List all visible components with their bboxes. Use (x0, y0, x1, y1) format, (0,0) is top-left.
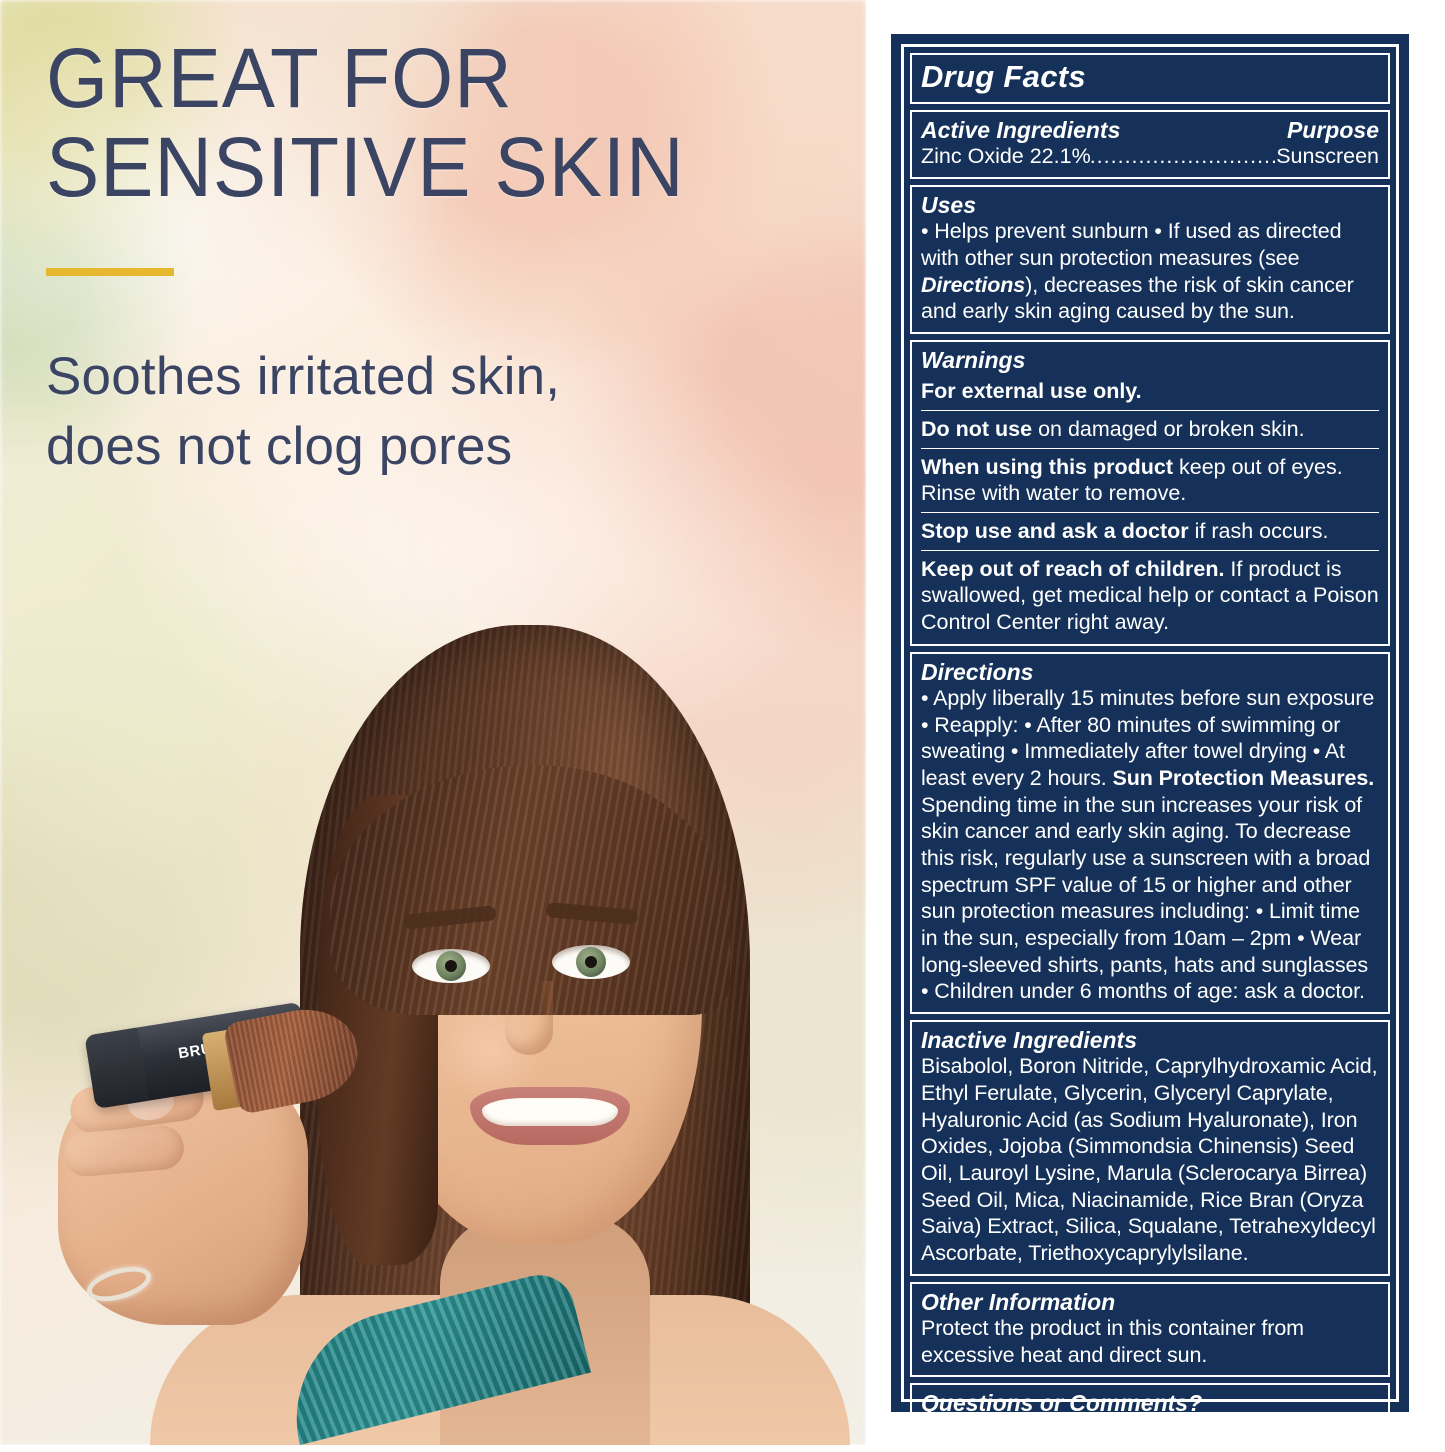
warning-rest: on damaged or broken skin. (1032, 417, 1305, 441)
accent-divider (46, 268, 174, 276)
warning-bold: When using this product (921, 455, 1173, 479)
mouth (470, 1087, 630, 1145)
uses-box: Uses • Helps prevent sunburn • If used a… (910, 185, 1390, 334)
headline-line-1: GREAT FOR (46, 34, 797, 123)
directions-box: Directions • Apply liberally 15 minutes … (910, 652, 1390, 1014)
marketing-panel: GREAT FOR SENSITIVE SKIN Soothes irritat… (0, 0, 866, 1445)
other-information-title: Other Information (921, 1289, 1379, 1315)
purpose-label: Purpose (1287, 117, 1379, 143)
active-ingredients-label: Active Ingredients (921, 117, 1120, 143)
warning-bold: Keep out of reach of children. (921, 557, 1224, 581)
subheadline-line-2: does not clog pores (46, 412, 836, 482)
inactive-ingredients-text: Bisabolol, Boron Nitride, Caprylhydroxam… (921, 1053, 1379, 1266)
warning-item: Stop use and ask a doctor if rash occurs… (921, 513, 1379, 551)
drug-facts-title-box: Drug Facts (910, 53, 1390, 104)
warning-item: When using this product keep out of eyes… (921, 449, 1379, 513)
warning-bold: For external use only. (921, 379, 1142, 403)
teeth (482, 1098, 618, 1126)
applicator-cap (84, 1027, 149, 1109)
subheadline-line-1: Soothes irritated skin, (46, 342, 836, 412)
active-ingredient-row: Zinc Oxide 22.1% .......................… (921, 143, 1379, 170)
drug-facts-title: Drug Facts (921, 60, 1379, 95)
dot-leader: ........................................… (1090, 143, 1278, 170)
uses-title: Uses (921, 192, 1379, 218)
subheadline: Soothes irritated skin, does not clog po… (46, 342, 836, 482)
warnings-title: Warnings (921, 347, 1379, 373)
inactive-ingredients-box: Inactive Ingredients Bisabolol, Boron Ni… (910, 1020, 1390, 1276)
active-ingredients-box: Active Ingredients Purpose Zinc Oxide 22… (910, 110, 1390, 179)
warning-item: Do not use on damaged or broken skin. (921, 411, 1379, 449)
directions-title: Directions (921, 659, 1379, 685)
headline-line-2: SENSITIVE SKIN (46, 123, 797, 212)
sun-protection-measures-label: Sun Protection Measures. (1113, 766, 1375, 790)
model-photo: BRUSHONBLOCK® (0, 585, 866, 1445)
drug-facts-panel: Drug Facts Active Ingredients Purpose Zi… (891, 34, 1409, 1412)
warning-bold: Do not use (921, 417, 1032, 441)
inactive-ingredients-title: Inactive Ingredients (921, 1027, 1379, 1053)
warning-item: Keep out of reach of children. If produc… (921, 551, 1379, 637)
warning-item: For external use only. (921, 373, 1379, 411)
page-title: GREAT FOR SENSITIVE SKIN (46, 34, 797, 212)
purpose-value: Sunscreen (1276, 143, 1379, 170)
other-information-box: Other Information Protect the product in… (910, 1282, 1390, 1378)
questions-box: Questions or Comments? Contact our speci… (910, 1383, 1390, 1452)
questions-title: Questions or Comments? (921, 1390, 1379, 1416)
nose (505, 981, 553, 1055)
questions-text: Contact our specialists at (800) 916-769… (921, 1417, 1379, 1444)
other-information-text: Protect the product in this container fr… (921, 1315, 1379, 1368)
pupil-left (445, 960, 457, 972)
directions-text: • Apply liberally 15 minutes before sun … (921, 685, 1379, 1005)
warning-rest: if rash occurs. (1189, 519, 1329, 543)
warnings-box: Warnings For external use only. Do not u… (910, 340, 1390, 646)
drug-facts-side: Drug Facts Active Ingredients Purpose Zi… (866, 0, 1445, 1445)
uses-text-part-1: • Helps prevent sunburn • If used as dir… (921, 219, 1341, 270)
uses-text-emphasis: Directions (921, 273, 1025, 297)
uses-text: • Helps prevent sunburn • If used as dir… (921, 218, 1379, 325)
pupil-right (585, 956, 597, 968)
active-ingredient-value: Zinc Oxide 22.1% (921, 143, 1091, 170)
warning-bold: Stop use and ask a doctor (921, 519, 1189, 543)
directions-text-part-2: Spending time in the sun increases your … (921, 793, 1370, 1004)
marketing-copy: GREAT FOR SENSITIVE SKIN Soothes irritat… (46, 34, 836, 482)
product-marketing-image: GREAT FOR SENSITIVE SKIN Soothes irritat… (0, 0, 1445, 1445)
